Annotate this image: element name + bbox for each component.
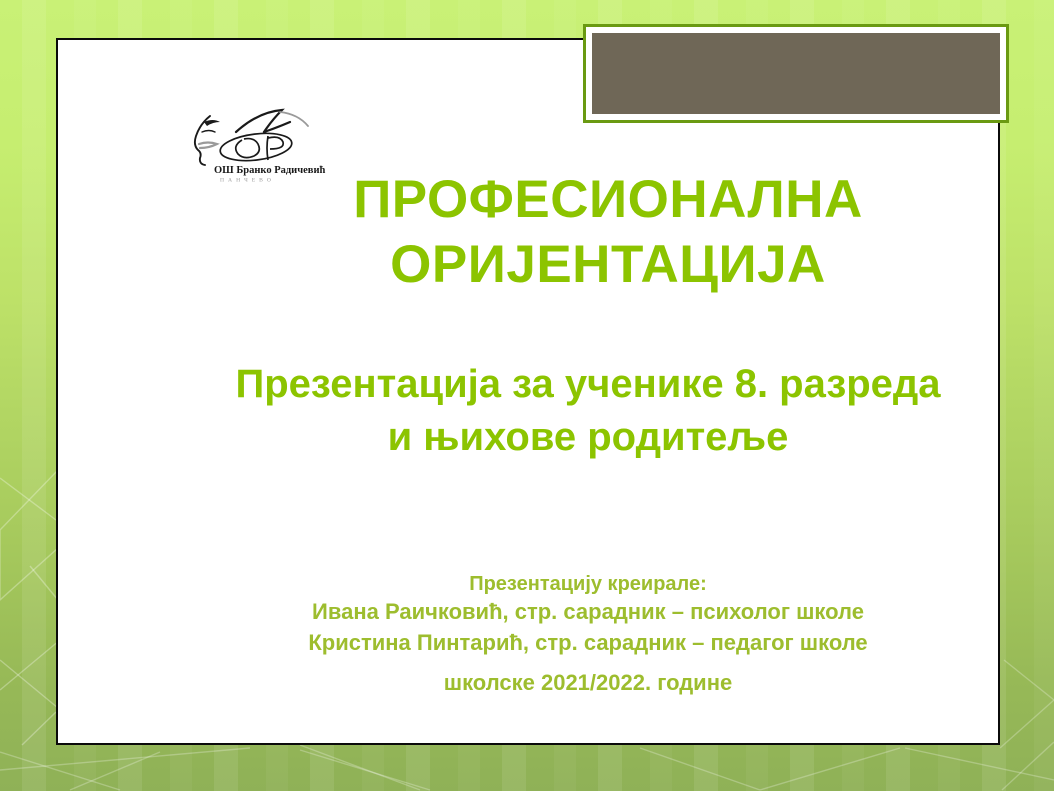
presentation-slide: ОШ Бранко Радичевић ПАНЧЕВО ПРОФЕСИОНАЛН… bbox=[0, 0, 1054, 791]
page-title-line-2: ОРИЈЕНТАЦИЈА bbox=[208, 233, 1008, 298]
page-title: ПРОФЕСИОНАЛНА ОРИЈЕНТАЦИЈА bbox=[208, 168, 1008, 297]
page-subtitle: Презентација за ученике 8. разреда и њих… bbox=[158, 358, 1018, 464]
school-year-label: школске 2021/2022. године bbox=[178, 670, 998, 696]
credits-author-1: Ивана Раичковић, стр. сарадник – психоло… bbox=[178, 596, 998, 627]
page-subtitle-line-2: и њихове родитеље bbox=[158, 411, 1018, 464]
page-subtitle-line-1: Презентација за ученике 8. разреда bbox=[158, 358, 1018, 411]
slide-content-area: ОШ Бранко Радичевић ПАНЧЕВО ПРОФЕСИОНАЛН… bbox=[56, 38, 1000, 745]
image-placeholder-fill bbox=[592, 33, 1000, 114]
credits-block: Презентацију креирале: Ивана Раичковић, … bbox=[178, 573, 998, 658]
credits-author-2: Кристина Пинтарић, стр. сарадник – педаг… bbox=[178, 627, 998, 658]
image-placeholder bbox=[583, 24, 1009, 123]
credits-lead: Презентацију креирале: bbox=[178, 573, 998, 596]
page-title-line-1: ПРОФЕСИОНАЛНА bbox=[208, 168, 1008, 233]
